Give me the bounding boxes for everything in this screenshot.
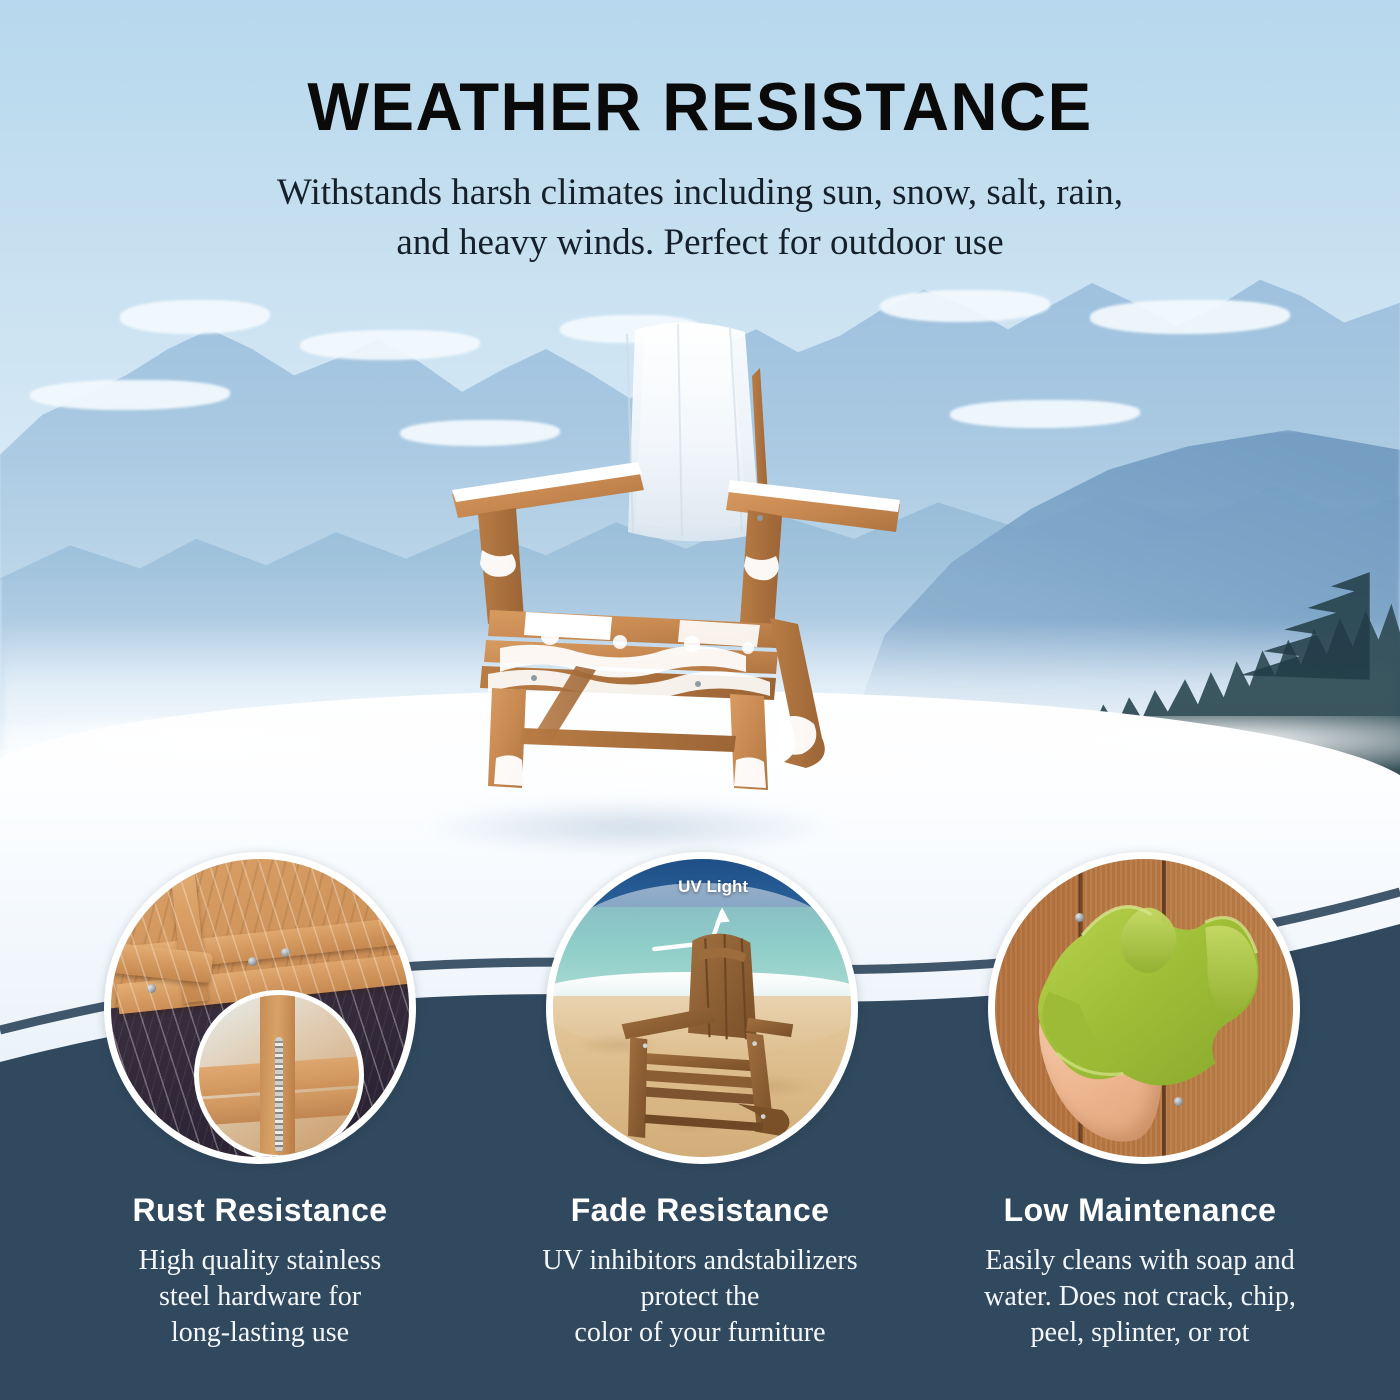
page-subtitle: Withstands harsh climates including sun,… (0, 168, 1400, 268)
feature-description-line: High quality stainless (50, 1243, 470, 1279)
uv-light-label: UV Light (678, 877, 748, 897)
subtitle-line-2: and heavy winds. Perfect for outdoor use (0, 218, 1400, 268)
feature-caption-low-maintenance: Low Maintenance Easily cleans with soap … (930, 1192, 1350, 1351)
feature-description-line: peel, splinter, or rot (930, 1315, 1350, 1351)
hero-snow-chair (430, 318, 940, 818)
feature-title: Low Maintenance (930, 1192, 1350, 1229)
feature-image-low-maintenance (988, 852, 1300, 1164)
subtitle-line-1: Withstands harsh climates including sun,… (0, 168, 1400, 218)
stainless-chain-icon (275, 1037, 283, 1152)
feature-description-line: steel hardware for (50, 1279, 470, 1315)
feature-image-fade-resistance: UV Light (546, 852, 858, 1164)
feature-description-line: Easily cleans with soap and (930, 1243, 1350, 1279)
feature-description-line: water. Does not crack, chip, (930, 1279, 1350, 1315)
page-title: WEATHER RESISTANCE (28, 68, 1372, 146)
feature-description-line: color of your furniture (490, 1315, 910, 1351)
feature-title: Fade Resistance (490, 1192, 910, 1229)
microfiber-cloth (1013, 883, 1269, 1115)
weather-resistance-infographic: WEATHER RESISTANCE Withstands harsh clim… (0, 0, 1400, 1400)
feature-title: Rust Resistance (50, 1192, 470, 1229)
feature-description: Easily cleans with soap and water. Does … (930, 1243, 1350, 1351)
beach-adirondack-chair (613, 925, 828, 1151)
feature-description: High quality stainless steel hardware fo… (50, 1243, 470, 1351)
feature-description-line: UV inhibitors andstabilizers (490, 1243, 910, 1279)
feature-description-line: long-lasting use (50, 1315, 470, 1351)
feature-caption-fade-resistance: Fade Resistance UV inhibitors andstabili… (490, 1192, 910, 1351)
feature-description-line: protect the (490, 1279, 910, 1315)
hardware-closeup-inset (194, 990, 364, 1160)
feature-image-rust-resistance (104, 852, 416, 1164)
feature-description: UV inhibitors andstabilizers protect the… (490, 1243, 910, 1351)
feature-caption-rust-resistance: Rust Resistance High quality stainless s… (50, 1192, 470, 1351)
